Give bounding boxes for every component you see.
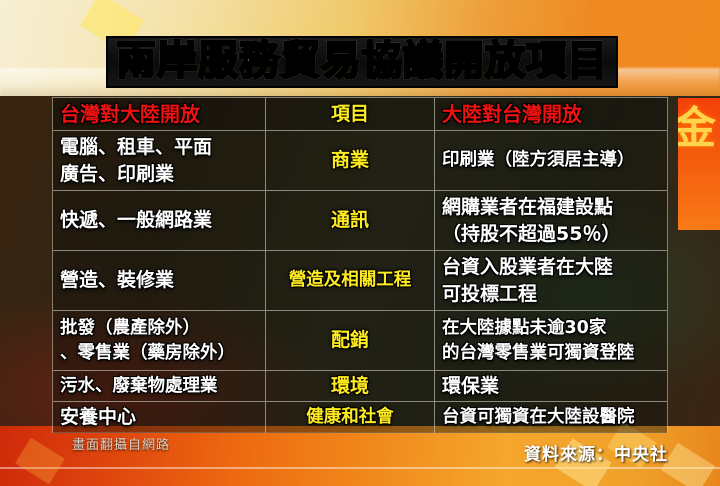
header-label-right: 大陸對台灣開放	[442, 100, 660, 128]
cell-taiwan-opens: 快遞、一般網路業	[53, 191, 266, 250]
cell-line: 環保業	[442, 373, 660, 400]
cell-line: 營造、裝修業	[60, 267, 258, 294]
cell-line: 健康和社會	[306, 405, 394, 430]
cell-taiwan-opens: 安養中心	[53, 402, 266, 433]
cell-category: 配銷	[266, 311, 435, 370]
cell-line: 電腦、租車、平面	[60, 134, 258, 161]
partial-glyph-text: 金	[678, 98, 716, 156]
table-row: 污水、廢棄物處理業 環境 環保業	[53, 371, 667, 402]
header-cell-category: 項目	[266, 98, 435, 130]
cell-category: 環境	[266, 371, 435, 401]
cell-line: 印刷業（陸方須居主導）	[442, 148, 660, 173]
header-label-left: 台灣對大陸開放	[60, 100, 258, 128]
cell-china-opens: 網購業者在福建設點 （持股不超過55％）	[435, 191, 667, 250]
cell-taiwan-opens: 污水、廢棄物處理業	[53, 371, 266, 401]
cell-line: 的台灣零售業可獨資登陸	[442, 341, 660, 366]
cell-line: 污水、廢棄物處理業	[60, 374, 258, 399]
cell-line: 、零售業（藥房除外）	[60, 341, 258, 366]
cell-category: 通訊	[266, 191, 435, 250]
cell-china-opens: 台資可獨資在大陸設醫院	[435, 402, 667, 433]
right-edge-strip: 金	[678, 98, 720, 230]
cell-line: 可投標工程	[442, 281, 660, 308]
header-cell-china-opens: 大陸對台灣開放	[435, 98, 667, 130]
cell-line: 台資可獨資在大陸設醫院	[442, 405, 660, 430]
cell-china-opens: 印刷業（陸方須居主導）	[435, 131, 667, 190]
cell-line: 安養中心	[60, 404, 258, 431]
cell-line: 在大陸據點未逾30家	[442, 316, 660, 341]
table-row: 電腦、租車、平面 廣告、印刷業 商業 印刷業（陸方須居主導）	[53, 131, 667, 191]
cell-category: 健康和社會	[266, 402, 435, 433]
cell-line: 商業	[331, 147, 369, 174]
cell-china-opens: 環保業	[435, 371, 667, 401]
page-title: 兩岸服務貿易協議開放項目	[106, 33, 618, 89]
table-row: 安養中心 健康和社會 台資可獨資在大陸設醫院	[53, 402, 667, 433]
cell-china-opens: 台資入股業者在大陸 可投標工程	[435, 251, 667, 310]
cell-china-opens: 在大陸據點未逾30家 的台灣零售業可獨資登陸	[435, 311, 667, 370]
cell-category: 營造及相關工程	[266, 251, 435, 310]
cell-line: 通訊	[331, 207, 369, 234]
table-row: 快遞、一般網路業 通訊 網購業者在福建設點 （持股不超過55％）	[53, 191, 667, 251]
table-row: 營造、裝修業 營造及相關工程 台資入股業者在大陸 可投標工程	[53, 251, 667, 311]
cell-line: （持股不超過55％）	[442, 221, 660, 248]
broadcast-graphic: 金 兩岸服務貿易協議開放項目 台灣對大陸開放 項目 大陸對台灣開放 電腦、租車、…	[0, 0, 720, 486]
footer-note: 畫面翻攝自網路	[72, 434, 170, 453]
cell-line: 快遞、一般網路業	[60, 207, 258, 234]
header-cell-taiwan-opens: 台灣對大陸開放	[53, 98, 266, 130]
comparison-table: 台灣對大陸開放 項目 大陸對台灣開放 電腦、租車、平面 廣告、印刷業 商業 印刷…	[52, 97, 668, 433]
cell-line: 廣告、印刷業	[60, 161, 258, 188]
cell-taiwan-opens: 批發（農產除外） 、零售業（藥房除外）	[53, 311, 266, 370]
table-header-row: 台灣對大陸開放 項目 大陸對台灣開放	[53, 98, 667, 131]
cell-category: 商業	[266, 131, 435, 190]
bottom-divider-line	[0, 467, 720, 469]
cell-taiwan-opens: 營造、裝修業	[53, 251, 266, 310]
header-label-middle: 項目	[331, 101, 369, 128]
cell-line: 批發（農產除外）	[60, 316, 258, 341]
cell-line: 營造及相關工程	[289, 268, 412, 293]
footer-source: 資料來源：中央社	[524, 440, 668, 465]
cell-taiwan-opens: 電腦、租車、平面 廣告、印刷業	[53, 131, 266, 190]
cell-line: 台資入股業者在大陸	[442, 254, 660, 281]
table-row: 批發（農產除外） 、零售業（藥房除外） 配銷 在大陸據點未逾30家 的台灣零售業…	[53, 311, 667, 371]
cell-line: 網購業者在福建設點	[442, 194, 660, 221]
cell-line: 環境	[331, 373, 369, 400]
cell-line: 配銷	[331, 327, 369, 354]
